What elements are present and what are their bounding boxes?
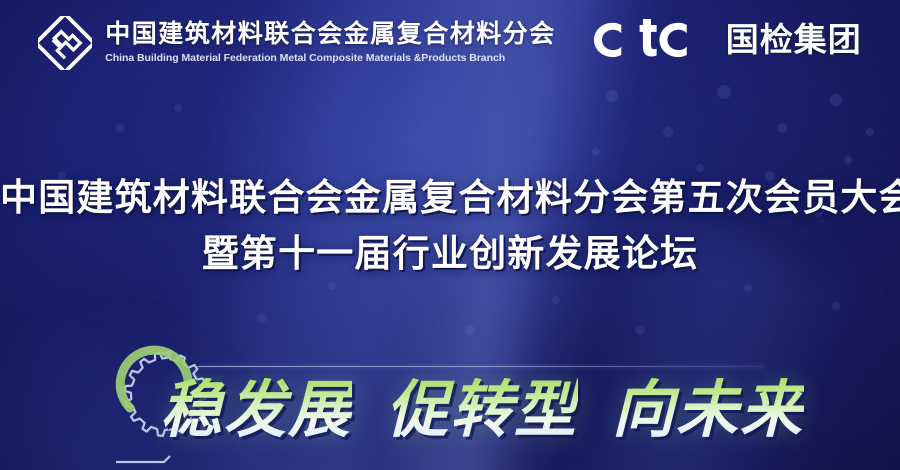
association-name-block: 中国建筑材料联合会金属复合材料分会 China Building Materia… xyxy=(105,20,556,65)
slogan-phrase-3: 向未来 xyxy=(612,378,804,443)
conference-title-line-2: 暨第十一届行业创新发展论坛 xyxy=(0,226,900,282)
ctc-wordmark-icon xyxy=(594,19,714,59)
slogan-underline xyxy=(198,366,764,367)
slogan-text: 稳发展 促转型 向未来 xyxy=(160,378,804,443)
conference-title-line-1: 中国建筑材料联合会金属复合材料分会第五次会员大会 xyxy=(0,170,900,226)
ctc-chinese-name: 国检集团 xyxy=(726,23,862,56)
association-english-name: China Building Material Federation Metal… xyxy=(105,52,556,64)
association-logo: 中国建筑材料联合会金属复合材料分会 China Building Materia… xyxy=(38,14,556,70)
cbmf-diamond-emblem-icon xyxy=(38,16,92,70)
conference-banner: 中国建筑材料联合会金属复合材料分会 China Building Materia… xyxy=(0,0,900,470)
slogan-phrase-1: 稳发展 xyxy=(160,378,352,443)
banner-header: 中国建筑材料联合会金属复合材料分会 China Building Materia… xyxy=(0,14,900,70)
slogan-band: 稳发展 促转型 向未来 xyxy=(0,340,900,470)
association-chinese-name: 中国建筑材料联合会金属复合材料分会 xyxy=(105,20,556,50)
slogan-phrase-2: 促转型 xyxy=(386,378,578,443)
ctc-logo: 国检集团 xyxy=(594,19,862,59)
conference-title: 中国建筑材料联合会金属复合材料分会第五次会员大会 暨第十一届行业创新发展论坛 xyxy=(0,170,900,281)
